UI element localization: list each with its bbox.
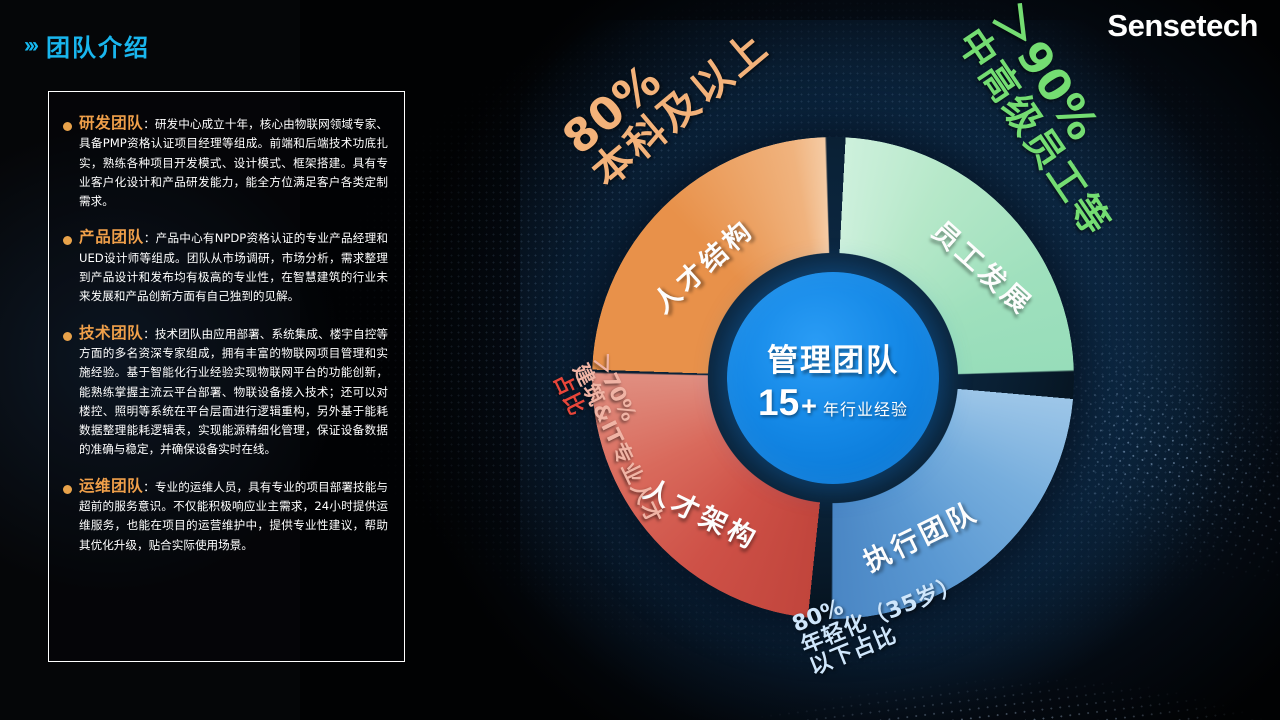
company-logo: Sensetech (1107, 8, 1258, 44)
slide-canvas: Sensetech ››› 团队介绍 研发团队：研发中心成立十年，核心由物联网领… (0, 0, 1280, 720)
paragraph-text: 产品团队：产品中心有NPDP资格认证的专业产品经理和UED设计师等组成。团队从市… (79, 228, 388, 306)
center-value: 15 (758, 384, 799, 421)
list-item: 技术团队：技术团队由应用部署、系统集成、楼宇自控等方面的多名资深专家组成，拥有丰… (63, 324, 388, 460)
paragraph-heading: 技术团队 (79, 324, 143, 342)
paragraph-heading: 产品团队 (79, 228, 144, 246)
team-description-panel: 研发团队：研发中心成立十年，核心由物联网领域专家、具备PMP资格认证项目经理等组… (48, 91, 405, 662)
page-title: ››› 团队介绍 (24, 28, 150, 63)
chevron-right-icon: ››› (24, 35, 36, 56)
donut-center: 管理团队 15 + 年行业经验 (727, 272, 939, 484)
team-donut-chart: 管理团队 15 + 年行业经验 人才结构 员工发展 执行团队 人才架构 80% … (540, 95, 1164, 661)
paragraph-text: 运维团队：专业的运维人员，具有专业的项目部署技能与超前的服务意识。不仅能积极响应… (79, 477, 388, 555)
center-title: 管理团队 (767, 335, 899, 380)
bullet-icon (63, 122, 72, 131)
center-unit: 年行业经验 (823, 396, 908, 420)
bullet-icon (63, 485, 72, 494)
paragraph-text: 技术团队：技术团队由应用部署、系统集成、楼宇自控等方面的多名资深专家组成，拥有丰… (79, 324, 388, 460)
list-item: 研发团队：研发中心成立十年，核心由物联网领域专家、具备PMP资格认证项目经理等组… (63, 114, 388, 211)
paragraph-separator: ： (143, 117, 155, 131)
list-item: 产品团队：产品中心有NPDP资格认证的专业产品经理和UED设计师等组成。团队从市… (63, 228, 388, 306)
paragraph-body: 技术团队由应用部署、系统集成、楼宇自控等方面的多名资深专家组成，拥有丰富的物联网… (79, 327, 388, 457)
paragraph-text: 研发团队：研发中心成立十年，核心由物联网领域专家、具备PMP资格认证项目经理等组… (79, 114, 388, 211)
center-subtitle: 15 + 年行业经验 (758, 384, 908, 421)
bullet-icon (63, 332, 72, 341)
list-item: 运维团队：专业的运维人员，具有专业的项目部署技能与超前的服务意识。不仅能积极响应… (63, 477, 388, 555)
page-title-label: 团队介绍 (46, 28, 150, 63)
bullet-icon (63, 236, 72, 245)
paragraph-heading: 研发团队 (79, 114, 143, 132)
paragraph-separator: ： (143, 480, 155, 494)
paragraph-separator: ： (143, 327, 155, 341)
paragraph-heading: 运维团队 (79, 477, 143, 495)
center-plus-sign: + (801, 393, 817, 420)
paragraph-separator: ： (144, 231, 156, 245)
